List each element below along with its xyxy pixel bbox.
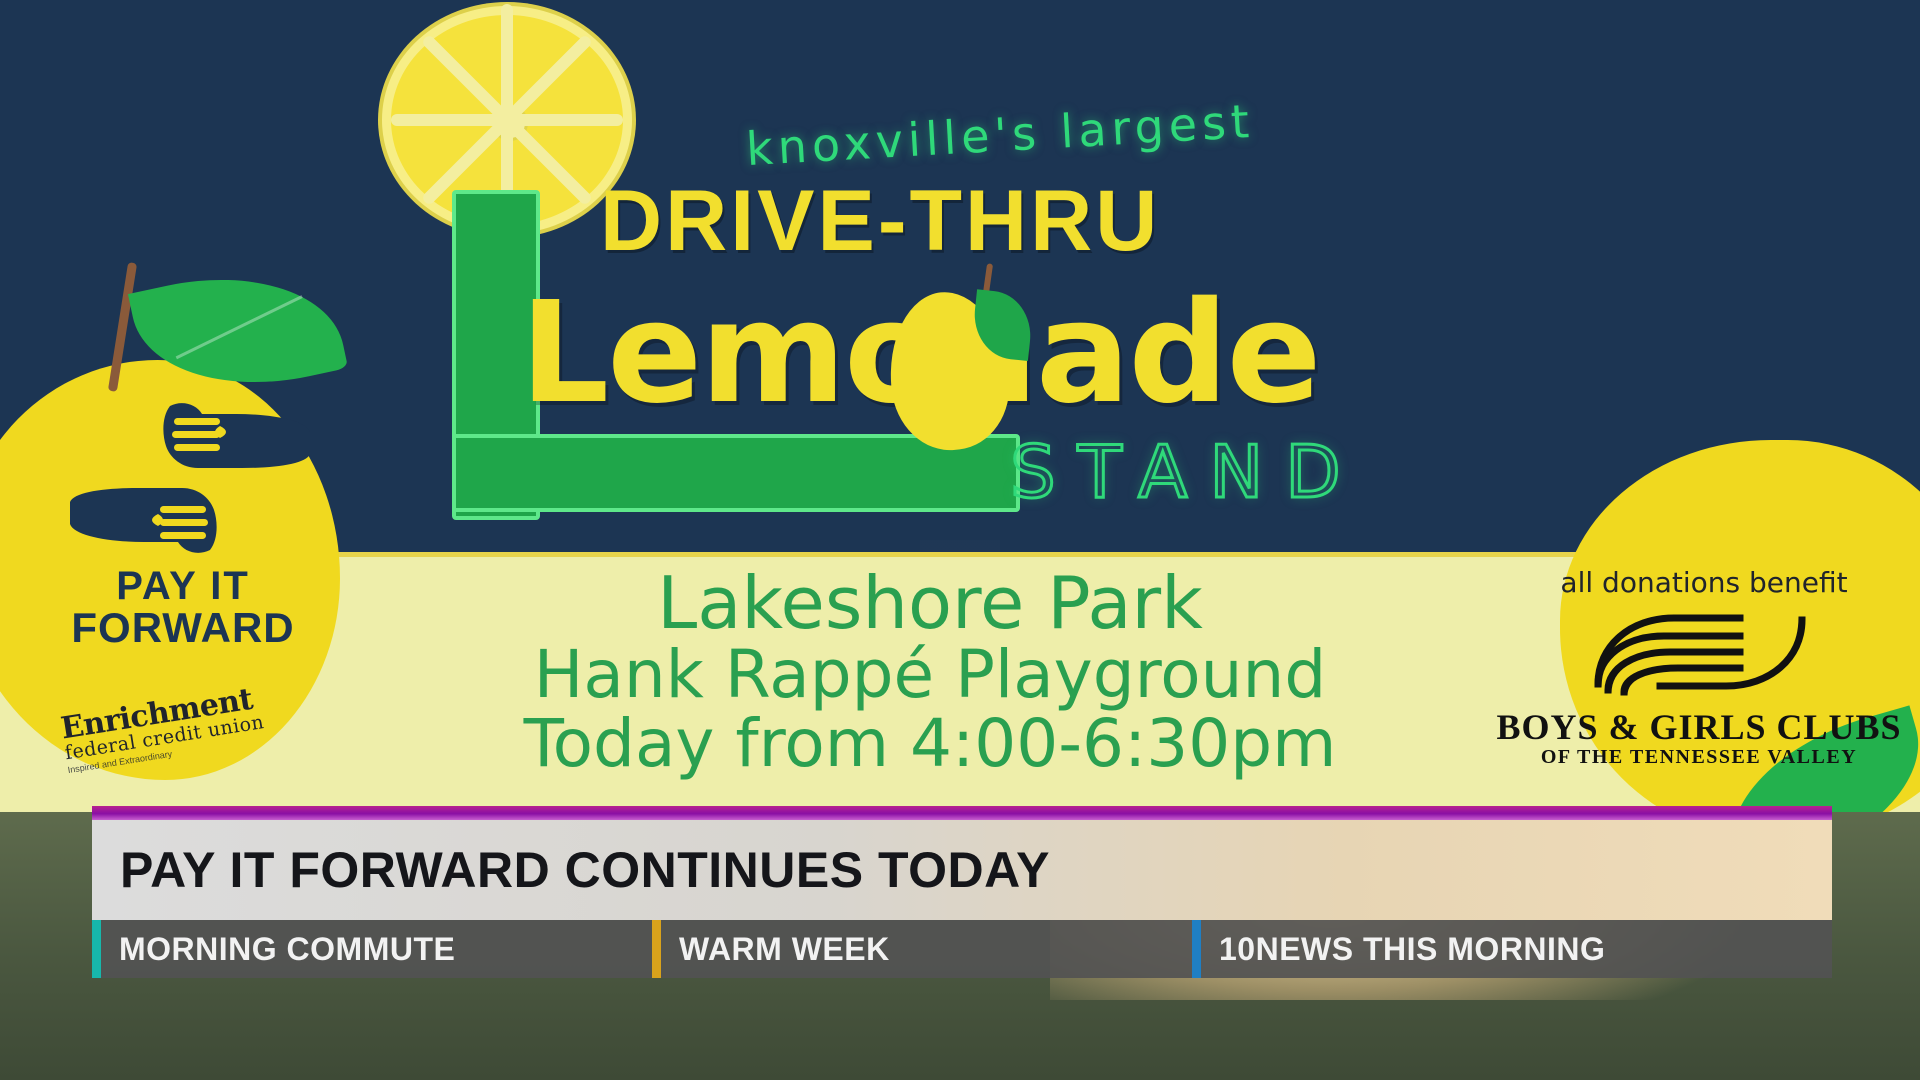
boys-girls-clubs-name: BOYS & GIRLS CLUBS OF THE TENNESSEE VALL… bbox=[1494, 706, 1904, 769]
promo-title-drive-thru: DRIVE-THRU bbox=[600, 172, 1440, 271]
ticker-color-bar bbox=[652, 920, 661, 978]
promo-title-stand: STAND bbox=[1010, 430, 1570, 514]
news-headline-bar: PAY IT FORWARD CONTINUES TODAY bbox=[92, 820, 1832, 920]
ticker-color-bar bbox=[1192, 920, 1201, 978]
ticker-item-label: WARM WEEK bbox=[679, 931, 890, 968]
promo-graphic: knoxville's largest DRIVE-THRU Lemonade … bbox=[0, 0, 1920, 812]
ticker-item-1[interactable]: MORNING COMMUTE bbox=[92, 920, 652, 978]
ticker-color-bar bbox=[92, 920, 101, 978]
helping-hands-icon bbox=[70, 398, 310, 558]
ticker-item-3[interactable]: 10NEWS THIS MORNING bbox=[1192, 920, 1832, 978]
boys-girls-clubs-logo-icon bbox=[1590, 606, 1810, 698]
bgc-name-line-1: BOYS & GIRLS CLUBS bbox=[1494, 706, 1904, 748]
pay-it-forward-line-2: FORWARD bbox=[48, 607, 318, 650]
broadcast-screen: knoxville's largest DRIVE-THRU Lemonade … bbox=[0, 0, 1920, 1080]
lower-third-accent-bar bbox=[92, 806, 1832, 820]
lemon-slice-segment bbox=[391, 114, 507, 126]
promo-title-lemonade: Lemonade bbox=[520, 272, 1580, 435]
sunburst-ray bbox=[920, 540, 1000, 552]
lemon-slice-segment bbox=[421, 34, 512, 125]
lemon-slice-segment bbox=[501, 4, 513, 120]
pay-it-forward-line-1: PAY IT bbox=[48, 566, 318, 607]
ticker-item-2[interactable]: WARM WEEK bbox=[652, 920, 1192, 978]
venue-time: Today from 4:00-6:30pm bbox=[420, 710, 1440, 779]
venue-playground-name: Hank Rappé Playground bbox=[420, 641, 1440, 710]
venue-park-name: Lakeshore Park bbox=[420, 566, 1440, 641]
ticker-item-label: MORNING COMMUTE bbox=[119, 931, 455, 968]
lower-third-banner: PAY IT FORWARD CONTINUES TODAY MORNING C… bbox=[92, 806, 1832, 978]
donations-kicker: all donations benefit bbox=[1524, 566, 1884, 599]
venue-details: Lakeshore Park Hank Rappé Playground Tod… bbox=[420, 566, 1440, 778]
pay-it-forward-label: PAY IT FORWARD bbox=[48, 566, 318, 650]
news-ticker-bar[interactable]: MORNING COMMUTEWARM WEEK10NEWS THIS MORN… bbox=[92, 920, 1832, 978]
lemon-slice-segment bbox=[503, 34, 594, 125]
news-headline-text: PAY IT FORWARD CONTINUES TODAY bbox=[120, 841, 1050, 899]
bgc-name-line-2: OF THE TENNESSEE VALLEY bbox=[1494, 746, 1904, 769]
ticker-item-label: 10NEWS THIS MORNING bbox=[1219, 931, 1605, 968]
lemon-slice-segment bbox=[507, 114, 623, 126]
